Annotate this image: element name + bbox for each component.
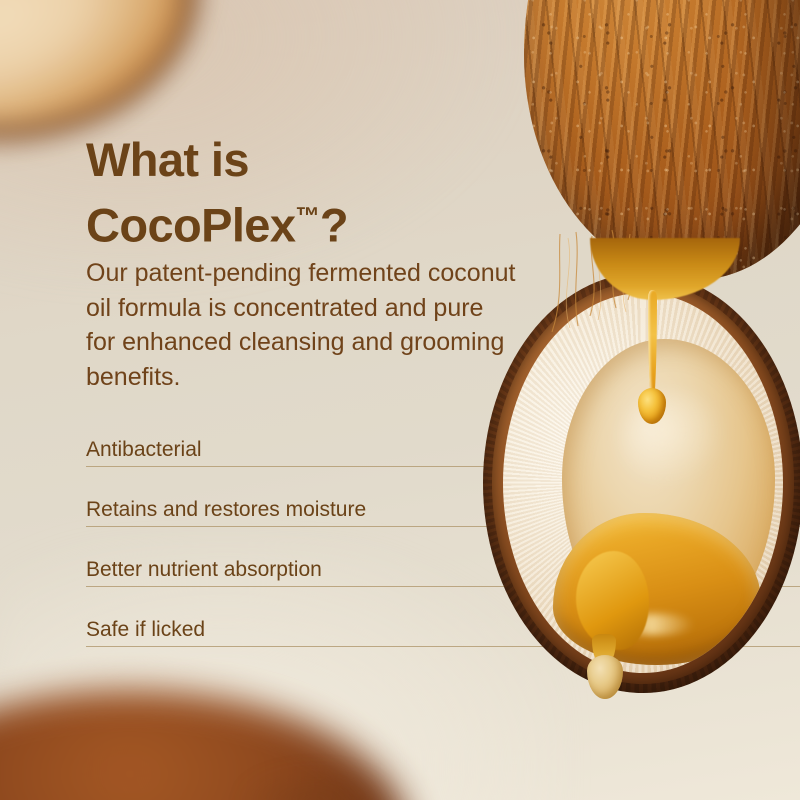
trademark-icon: ™ — [295, 203, 319, 230]
page-title-line-1: What is — [86, 133, 249, 186]
product-explainer-card: What isCocoPlex™? Our patent-pending fer… — [0, 0, 800, 800]
feature-item: Better nutrient absorption — [86, 557, 506, 583]
page-title-suffix: ? — [320, 199, 348, 252]
text-content: What isCocoPlex™? Our patent-pending fer… — [0, 0, 800, 800]
feature-item: Safe if licked — [86, 617, 506, 643]
feature-item: Retains and restores moisture — [86, 497, 506, 523]
page-title: What isCocoPlex™? — [86, 131, 506, 254]
page-title-product-name: CocoPlex — [86, 199, 295, 252]
body-description: Our patent-pending fermented coconut oil… — [86, 256, 516, 394]
feature-item: Antibacterial — [86, 437, 506, 463]
